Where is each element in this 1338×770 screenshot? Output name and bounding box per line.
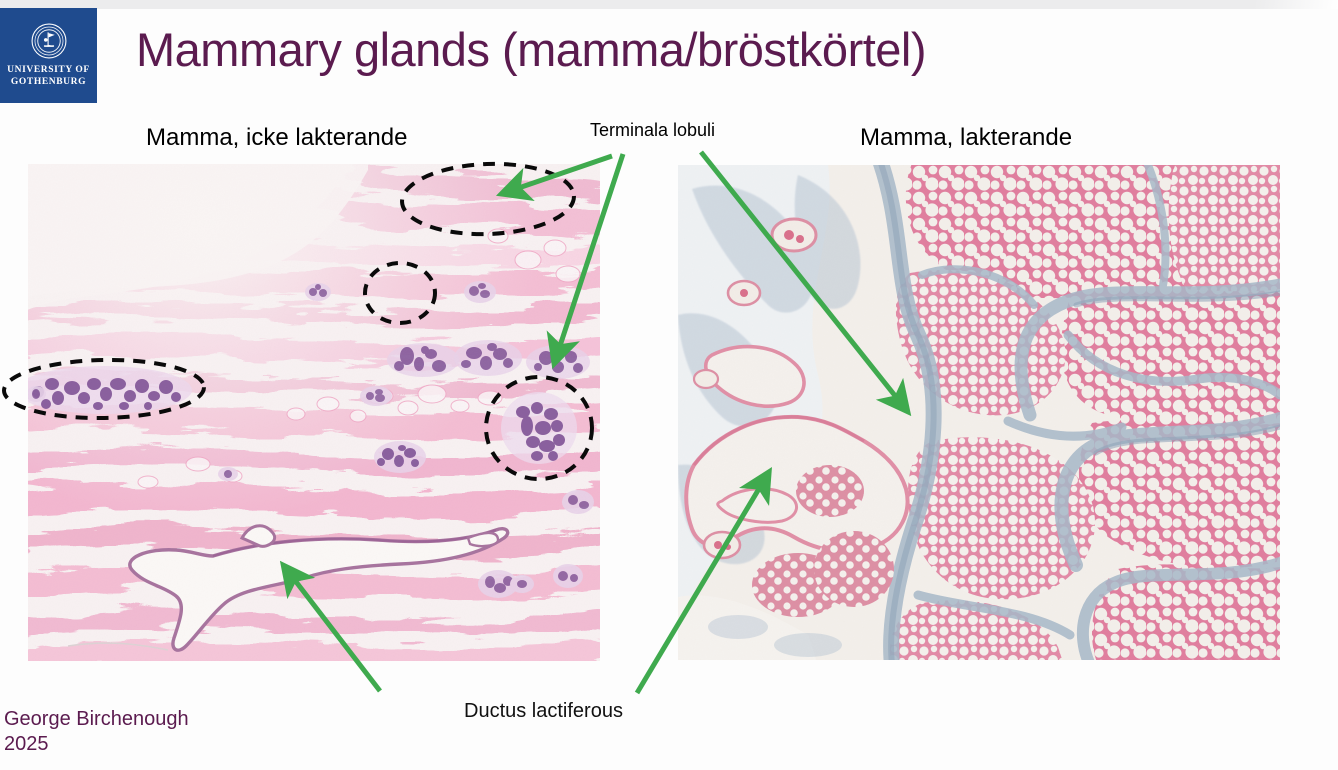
micrograph-non-lactating-breast <box>28 164 600 661</box>
university-of-gothenburg-logo: UNIVERSITY OF GOTHENBURG <box>0 8 97 103</box>
logo-line-2: GOTHENBURG <box>11 76 86 88</box>
gothenburg-seal-icon <box>31 23 67 59</box>
caption-left-panel: Mamma, icke lakterande <box>146 124 407 152</box>
caption-right-panel: Mamma, lakterande <box>860 124 1072 152</box>
micrograph-left-svg <box>28 164 600 661</box>
slide-footer: George Birchenough 2025 <box>4 707 189 757</box>
logo-line-1: UNIVERSITY OF <box>7 64 90 76</box>
label-terminala-lobuli: Terminala lobuli <box>590 120 715 141</box>
footer-year: 2025 <box>4 732 189 757</box>
micrograph-lactating-breast <box>678 165 1280 660</box>
slide-canvas: UNIVERSITY OF GOTHENBURG Mammary glands … <box>0 0 1338 770</box>
slide-top-edge <box>0 0 1338 9</box>
page-title: Mammary glands (mamma/bröstkörtel) <box>136 22 926 78</box>
footer-author: George Birchenough <box>4 707 189 732</box>
label-ductus-lactiferous: Ductus lactiferous <box>464 700 623 723</box>
micrograph-right-svg <box>678 165 1280 660</box>
